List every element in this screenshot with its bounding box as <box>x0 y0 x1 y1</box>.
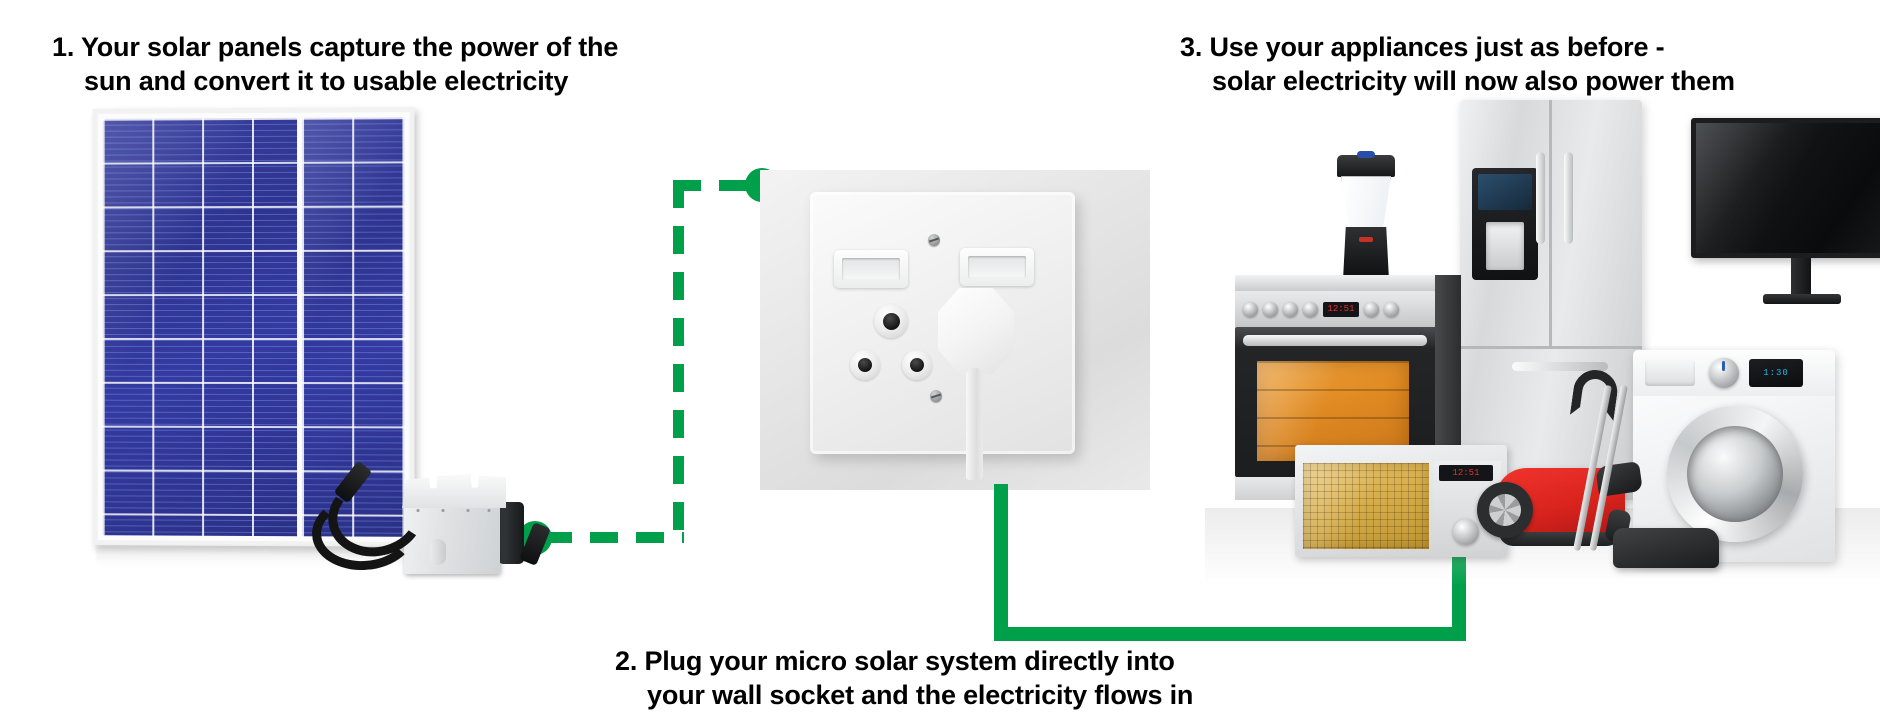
step-1-line-1: Your solar panels capture the power of t… <box>81 32 618 62</box>
step-1-caption: 1. Your solar panels capture the power o… <box>52 30 618 98</box>
blender-lid <box>1337 155 1395 177</box>
step-3-number: 3. <box>1180 32 1202 62</box>
microwave-door <box>1303 463 1429 549</box>
fridge-handle-left <box>1536 152 1545 244</box>
step-2-caption: 2. Plug your micro solar system directly… <box>615 644 1193 712</box>
step-3-line-1: Use your appliances just as before - <box>1209 32 1664 62</box>
socket-faceplate <box>810 192 1075 454</box>
microwave: 12:51 <box>1295 445 1507 557</box>
tv-stand-base <box>1763 294 1841 304</box>
faceplate-screw-top <box>928 234 940 246</box>
fridge-control-screen <box>1478 174 1532 210</box>
vacuum-floor-head <box>1613 528 1719 568</box>
fridge-water-dispenser <box>1472 168 1538 280</box>
faceplate-screw-bottom <box>930 390 942 402</box>
socket-earth-pin <box>874 304 908 338</box>
micro-inverter <box>392 466 518 578</box>
blender-jar <box>1341 176 1391 228</box>
fridge-freezer-divider <box>1460 346 1642 349</box>
tv-stand-neck <box>1791 258 1811 296</box>
washer-display: 1:30 <box>1749 359 1803 387</box>
solid-line-from-plug-vertical <box>994 484 1008 641</box>
tv-screen <box>1691 118 1880 258</box>
oven-knob-4[interactable] <box>1303 302 1318 317</box>
step-1-line-2: sun and convert it to usable electricity <box>52 64 618 98</box>
fridge-door-divider <box>1549 100 1552 346</box>
socket-switch-right[interactable] <box>960 248 1034 286</box>
oven-display: 12:51 <box>1323 302 1359 317</box>
fridge-dispenser-nook <box>1486 222 1524 270</box>
vacuum-wheel <box>1477 482 1533 538</box>
step-3-caption: 3. Use your appliances just as before -s… <box>1180 30 1735 98</box>
step-2-number: 2. <box>615 646 637 676</box>
step-1-number: 1. <box>52 32 74 62</box>
step-3-line-2: solar electricity will now also power th… <box>1180 64 1735 98</box>
oven-knob-1[interactable] <box>1243 302 1258 317</box>
socket-neutral-pin <box>902 350 932 380</box>
oven-cooktop <box>1235 275 1435 291</box>
oven-knob-6[interactable] <box>1384 302 1399 317</box>
plug-cord <box>966 368 983 480</box>
vacuum-wand <box>1565 370 1735 570</box>
oven-knob-5[interactable] <box>1364 302 1379 317</box>
step-2-line-1: Plug your micro solar system directly in… <box>644 646 1174 676</box>
infographic-canvas: 1. Your solar panels capture the power o… <box>0 0 1880 720</box>
blender-base <box>1343 227 1389 280</box>
dashed-line-bottom-horizontal <box>544 532 684 543</box>
oven-knob-3[interactable] <box>1283 302 1298 317</box>
step-2-line-2: your wall socket and the electricity flo… <box>615 678 1193 712</box>
fridge-handle-right <box>1564 152 1573 244</box>
oven-knob-2[interactable] <box>1263 302 1278 317</box>
inserted-plug <box>938 288 1014 374</box>
socket-switch-left[interactable] <box>834 250 908 288</box>
microwave-dial[interactable] <box>1453 519 1479 545</box>
appliance-group: 12:51 12:51 1:30 <box>1205 100 1880 600</box>
oven-handle <box>1243 335 1427 346</box>
solid-line-horizontal <box>994 627 1466 641</box>
dashed-line-vertical <box>673 180 684 543</box>
vacuum-wand-handle <box>1570 367 1620 421</box>
solar-panel-left-section <box>103 118 297 536</box>
wall-socket-photo <box>760 170 1150 490</box>
oven-control-panel: 12:51 <box>1235 291 1435 327</box>
socket-live-pin <box>850 350 880 380</box>
blender <box>1331 155 1403 280</box>
television <box>1691 118 1880 308</box>
